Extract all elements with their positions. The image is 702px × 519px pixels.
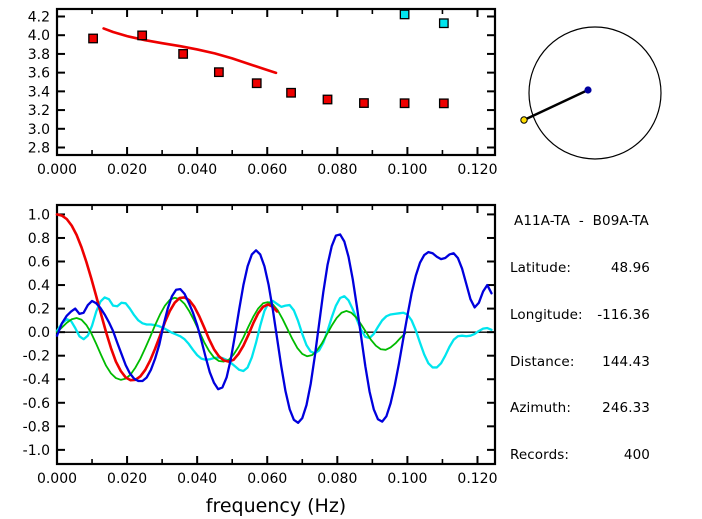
info-row-latitude: Latitude:48.96	[510, 261, 702, 277]
info-row-records: Records:400	[510, 448, 702, 464]
records-value: 400	[584, 448, 650, 464]
y-tick-label: -0.6	[23, 396, 50, 412]
x-tick-label: 0.040	[177, 162, 217, 178]
y-tick-label: 3.8	[28, 47, 50, 63]
distance-value: 144.43	[584, 355, 650, 371]
y-tick-label: -0.2	[23, 349, 50, 365]
y-tick-label: 0.0	[28, 325, 50, 341]
figure-root: 0.0000.0200.0400.0600.0800.1000.1202.83.…	[0, 0, 702, 519]
station-info-panel: A11A-TA - B09A-TA Latitude:48.96 Longitu…	[510, 183, 702, 495]
x-tick-label: 0.100	[387, 471, 427, 487]
x-axis-label: frequency (Hz)	[206, 495, 346, 517]
y-tick-label: 4.2	[28, 9, 50, 25]
x-tick-label: 0.000	[37, 162, 77, 178]
latitude-label: Latitude:	[510, 261, 584, 277]
data-point-marker[interactable]	[252, 79, 260, 88]
x-tick-label: 0.020	[107, 162, 147, 178]
y-tick-label: 3.4	[28, 84, 50, 100]
y-tick-label: 1.0	[28, 207, 50, 223]
y-tick-label: 0.4	[28, 278, 50, 294]
x-tick-label: 0.120	[457, 471, 497, 487]
station-pair-title: A11A-TA - B09A-TA	[510, 214, 702, 230]
distance-label: Distance:	[510, 355, 584, 371]
data-point-marker[interactable]	[89, 34, 98, 43]
x-tick-label: 0.060	[247, 471, 287, 487]
x-tick-label: 0.100	[387, 162, 427, 178]
info-row-longitude: Longitude:-116.36	[510, 308, 702, 324]
data-point-marker[interactable]	[138, 31, 147, 40]
y-tick-label: -0.8	[23, 419, 50, 435]
longitude-value: -116.36	[584, 308, 650, 324]
longitude-label: Longitude:	[510, 308, 584, 324]
data-point-marker[interactable]	[400, 99, 409, 108]
y-tick-label: 2.8	[28, 141, 50, 157]
latitude-value: 48.96	[584, 261, 650, 277]
data-point-marker[interactable]	[179, 50, 188, 59]
data-point-marker[interactable]	[323, 95, 332, 104]
y-tick-label: 0.2	[28, 302, 50, 318]
data-point-marker[interactable]	[287, 89, 296, 98]
azimuth-value: 246.33	[584, 401, 650, 417]
y-tick-label: 0.6	[28, 255, 50, 271]
x-tick-label: 0.000	[37, 471, 77, 487]
y-tick-label: 0.8	[28, 231, 50, 247]
y-tick-label: 3.6	[28, 66, 50, 82]
x-tick-label: 0.020	[107, 471, 147, 487]
data-point-marker[interactable]	[215, 68, 224, 77]
info-row-distance: Distance:144.43	[510, 355, 702, 371]
records-label: Records:	[510, 448, 584, 464]
center-station-dot	[584, 86, 591, 93]
azimuth-label: Azimuth:	[510, 401, 584, 417]
y-tick-label: -1.0	[23, 443, 50, 459]
info-row-azimuth: Azimuth:246.33	[510, 401, 702, 417]
data-point-marker[interactable]	[440, 99, 449, 108]
data-point-marker[interactable]	[400, 10, 409, 19]
remote-station-dot	[521, 117, 527, 123]
x-tick-label: 0.060	[247, 162, 287, 178]
y-tick-label: 3.0	[28, 122, 50, 138]
y-tick-label: 3.2	[28, 103, 50, 119]
y-tick-label: 4.0	[28, 28, 50, 44]
data-point-marker[interactable]	[440, 19, 449, 28]
data-point-marker[interactable]	[360, 99, 369, 108]
x-tick-label: 0.120	[457, 162, 497, 178]
x-tick-label: 0.040	[177, 471, 217, 487]
x-tick-label: 0.080	[317, 162, 357, 178]
x-tick-label: 0.080	[317, 471, 357, 487]
y-tick-label: -0.4	[23, 372, 50, 388]
